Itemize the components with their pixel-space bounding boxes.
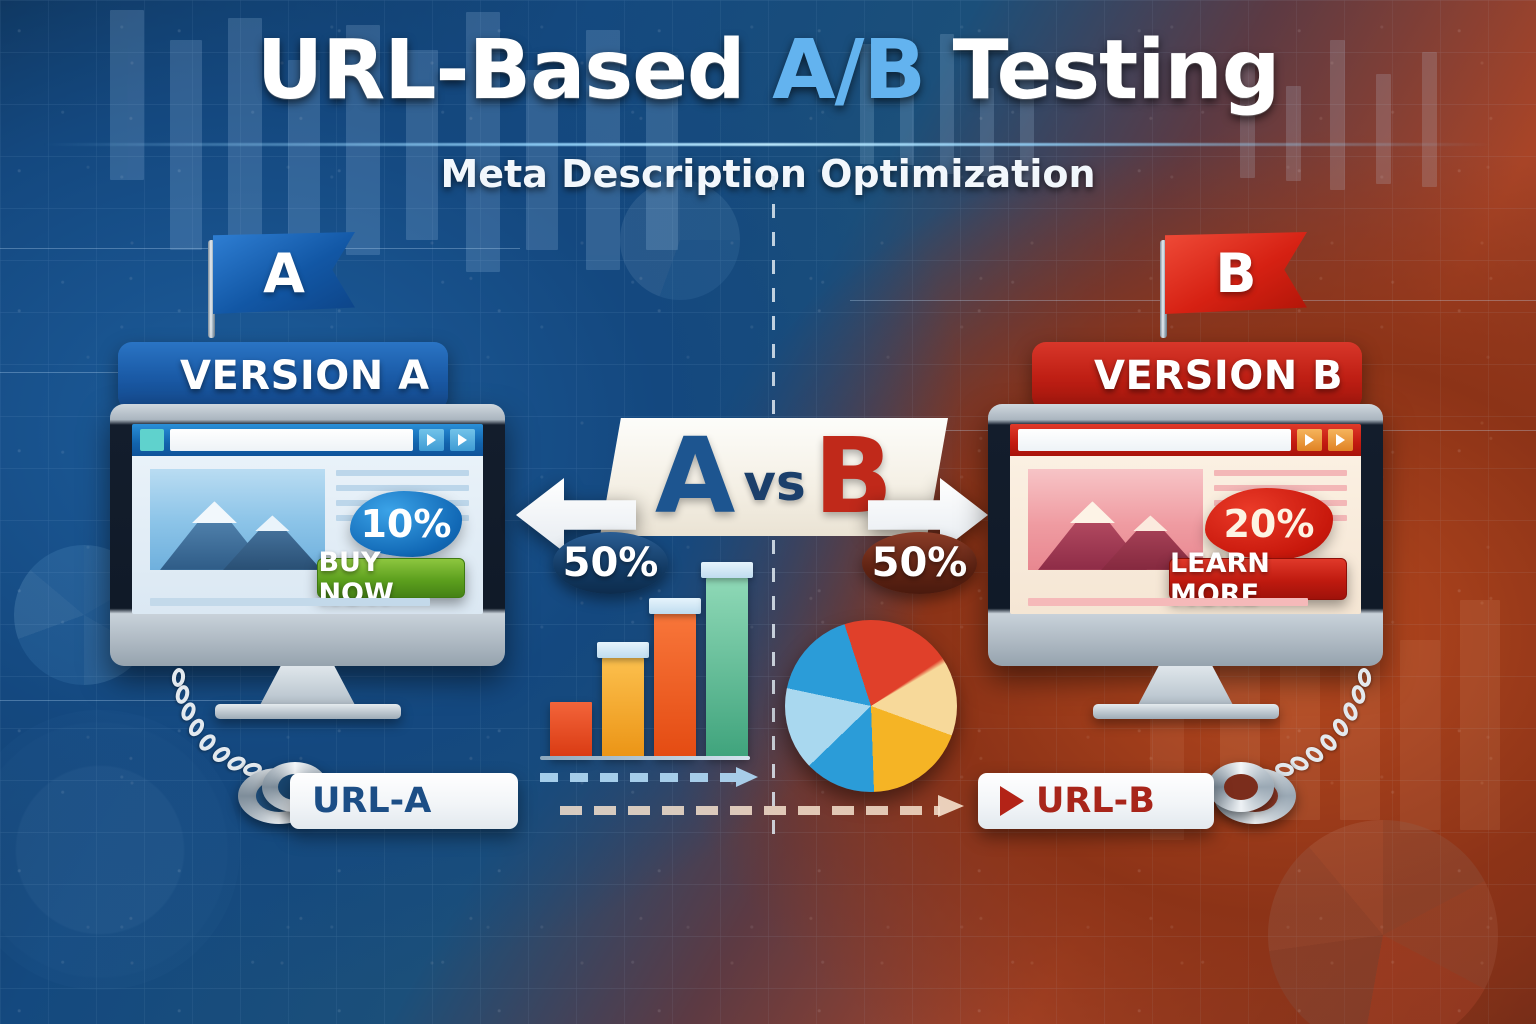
banner-label-a: VERSION A: [180, 353, 430, 399]
monitor-base-b: [1093, 704, 1279, 719]
flag-label-a: A: [213, 232, 355, 314]
monitor-variant-a: 10% BUY NOW: [110, 404, 505, 666]
flag-label-b: B: [1165, 232, 1307, 314]
mountain-snow-a1: [192, 501, 238, 523]
bar-2: [602, 658, 644, 758]
bar-chart-axis: [540, 756, 750, 760]
banner-label-b: VERSION B: [1094, 353, 1343, 399]
browser-forward-icon-b2[interactable]: [1328, 429, 1353, 451]
split-badge-b: 50%: [862, 532, 977, 594]
mountain-snow-b1: [1070, 501, 1116, 523]
comparison-label-vs: vs: [743, 454, 805, 512]
cta-button-a[interactable]: BUY NOW: [317, 558, 465, 598]
browser-forward-icon-b1[interactable]: [1297, 429, 1322, 451]
page-title: URL-Based A/B Testing: [0, 28, 1536, 114]
link-icon-b: [1208, 762, 1294, 824]
bar-3: [654, 614, 696, 758]
footer-line-a: [150, 598, 431, 606]
url-flow-arrow: [938, 795, 964, 817]
bar-cap-3: [649, 598, 701, 614]
bar-chart-trend-dash: [540, 773, 736, 782]
browser-window-a: 10% BUY NOW: [132, 424, 483, 614]
comparison-label-a: A: [655, 415, 736, 537]
pie-chart: [785, 620, 957, 792]
banner-version-a: VERSION A: [118, 342, 448, 410]
browser-window-b: 20% LEARN MORE: [1010, 424, 1361, 614]
title-text-part1: URL-Based: [257, 23, 773, 118]
flag-variant-b: B: [1160, 232, 1310, 342]
monitor-variant-b: 20% LEARN MORE: [988, 404, 1383, 666]
url-card-a[interactable]: URL-A: [290, 773, 518, 829]
hero-image-a: [150, 469, 326, 570]
title-ab-highlight: A/B: [772, 23, 925, 118]
bar-cap-2: [597, 642, 649, 658]
bar-4: [706, 578, 748, 758]
mountain-snow-a2: [255, 515, 290, 531]
mountain-snow-b2: [1133, 515, 1168, 531]
browser-address-bar-b[interactable]: [1018, 429, 1291, 451]
infographic-canvas: URL-Based A/B Testing Meta Description O…: [0, 0, 1536, 1024]
title-block: URL-Based A/B Testing: [0, 28, 1536, 114]
url-flow-dash: [560, 806, 940, 815]
browser-forward-icon-a2[interactable]: [450, 429, 475, 451]
browser-address-bar-a[interactable]: [170, 429, 413, 451]
url-card-b[interactable]: URL-B: [978, 773, 1214, 829]
bar-cap-4: [701, 562, 753, 578]
cta-button-b[interactable]: LEARN MORE: [1169, 558, 1347, 600]
title-divider-line: [43, 143, 1493, 146]
banner-version-b: VERSION B: [1032, 342, 1362, 410]
play-icon-b: [1000, 786, 1024, 816]
url-label-a: URL-A: [312, 781, 431, 821]
page-subtitle: Meta Description Optimization: [0, 152, 1536, 196]
browser-toolbar-b: [1010, 424, 1361, 456]
bar-chart-trend-arrow: [736, 767, 758, 787]
url-label-b: URL-B: [1036, 781, 1155, 821]
title-text-part2: Testing: [925, 23, 1279, 118]
bar-1: [550, 702, 592, 758]
browser-forward-icon-a1[interactable]: [419, 429, 444, 451]
footer-line-b: [1028, 598, 1309, 606]
browser-page-a: 10% BUY NOW: [132, 456, 483, 614]
browser-page-b: 20% LEARN MORE: [1010, 456, 1361, 614]
browser-logo-icon-a: [140, 429, 164, 451]
browser-toolbar-a: [132, 424, 483, 456]
flag-variant-a: A: [208, 232, 358, 342]
bar-chart: [540, 580, 760, 780]
